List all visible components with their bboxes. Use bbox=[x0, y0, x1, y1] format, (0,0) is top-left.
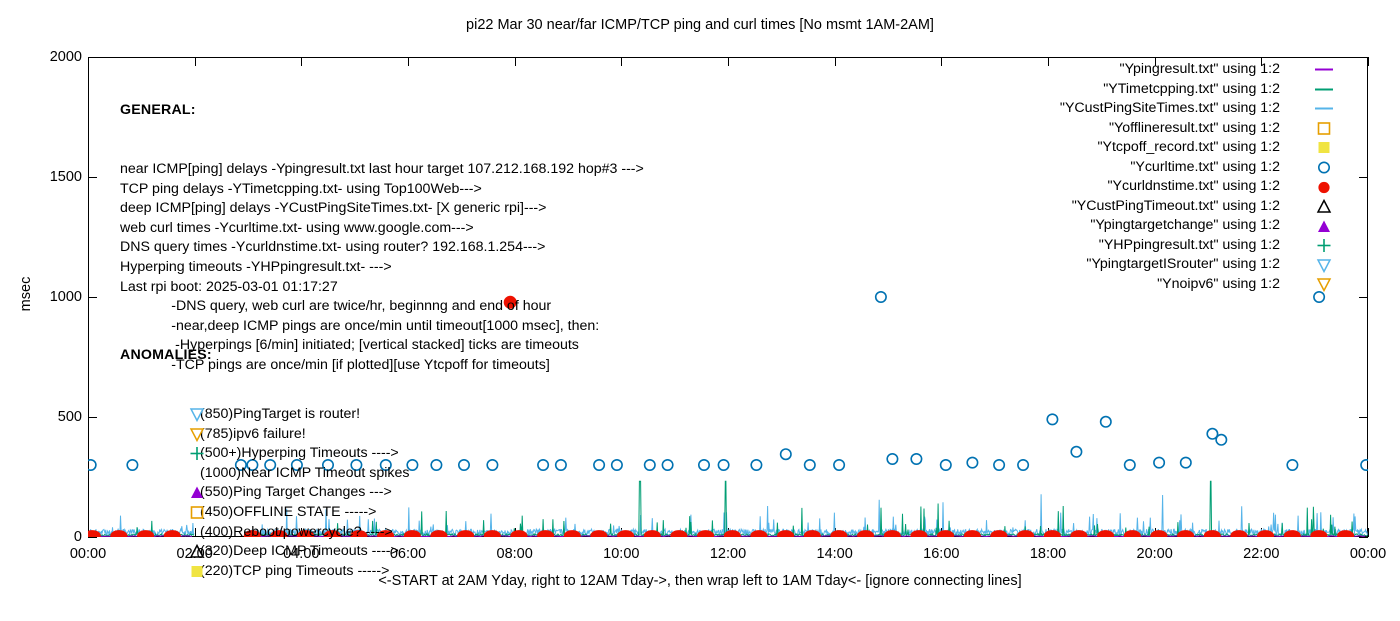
legend-row-7: "YCustPingTimeout.txt" using 1:2 bbox=[1060, 197, 1362, 217]
legend-row-11: "Ynoipv6" using 1:2 bbox=[1060, 275, 1362, 295]
x-tick-label-11: 22:00 bbox=[1216, 546, 1306, 562]
legend-row-10: "YpingtargetISrouter" using 1:2 bbox=[1060, 255, 1362, 275]
anomaly-row-3: (1000)Near ICMP Timeout spikes bbox=[120, 464, 409, 484]
curltime-marker bbox=[941, 460, 951, 470]
y-tick-label-2000: 2000 bbox=[50, 50, 82, 64]
legend-row-3: "Yofflineresult.txt" using 1:2 bbox=[1060, 119, 1362, 139]
general-line-2: deep ICMP[ping] delays -YCustPingSiteTim… bbox=[120, 199, 644, 219]
general-line-6: Last rpi boot: 2025-03-01 01:17:27 bbox=[120, 278, 644, 298]
anomaly-open-triangle-down-icon bbox=[188, 407, 206, 422]
legend-row-8: "Ypingtargetchange" using 1:2 bbox=[1060, 216, 1362, 236]
legend-row-9: "YHPpingresult.txt" using 1:2 bbox=[1060, 236, 1362, 256]
anomaly-open-triangle-up-icon bbox=[188, 544, 206, 559]
general-heading: GENERAL: bbox=[120, 101, 644, 121]
x-tick-mark-top bbox=[1368, 57, 1369, 66]
anomaly-row-5: (450)OFFLINE STATE -----> bbox=[120, 503, 409, 523]
curltime-marker bbox=[1047, 414, 1057, 424]
anomaly-row-1: (785)ipv6 failure! bbox=[120, 425, 409, 445]
legend-open-triangle-down-icon bbox=[1286, 255, 1362, 275]
legend-open-triangle-down-icon bbox=[1286, 275, 1362, 295]
dns-marker bbox=[88, 530, 101, 537]
legend-label: "YTimetcpping.txt" using 1:2 bbox=[1103, 81, 1280, 97]
legend-label: "Ypingtargetchange" using 1:2 bbox=[1090, 217, 1280, 233]
legend-line-icon bbox=[1286, 60, 1362, 80]
y-tick-label-0: 0 bbox=[74, 530, 82, 544]
chart-legend: "Ypingresult.txt" using 1:2"YTimetcpping… bbox=[1060, 60, 1362, 295]
legend-open-triangle-up-icon bbox=[1286, 197, 1362, 217]
anomalies-list: (850)PingTarget is router!(785)ipv6 fail… bbox=[120, 405, 409, 581]
anomaly-filled-triangle-up-icon bbox=[188, 485, 206, 500]
curltime-marker bbox=[699, 460, 709, 470]
curltime-marker bbox=[1101, 417, 1111, 427]
dns-marker bbox=[590, 530, 607, 537]
anomaly-label: (450)OFFLINE STATE -----> bbox=[200, 504, 376, 520]
legend-label: "YCustPingSiteTimes.txt" using 1:2 bbox=[1060, 100, 1280, 116]
chart-title: pi22 Mar 30 near/far ICMP/TCP ping and c… bbox=[0, 17, 1400, 33]
anomaly-row-6: (400)Reboot/powercycle? ----> bbox=[120, 523, 409, 543]
general-line-3: web curl times -Ycurltime.txt- using www… bbox=[120, 219, 644, 239]
anomaly-no-icon bbox=[188, 466, 206, 481]
curltime-marker bbox=[459, 460, 469, 470]
legend-label: "Ycurltime.txt" using 1:2 bbox=[1130, 159, 1280, 175]
anomaly-label: (1000)Near ICMP Timeout spikes bbox=[200, 465, 409, 481]
curltime-marker bbox=[911, 454, 921, 464]
curltime-marker bbox=[781, 449, 791, 459]
curltime-marker bbox=[718, 460, 728, 470]
curltime-marker bbox=[1071, 447, 1081, 457]
legend-label: "YCustPingTimeout.txt" using 1:2 bbox=[1072, 198, 1280, 214]
x-tick-label-7: 14:00 bbox=[790, 546, 880, 562]
legend-row-6: "Ycurldnstime.txt" using 1:2 bbox=[1060, 177, 1362, 197]
anomaly-label: (850)PingTarget is router! bbox=[200, 406, 360, 422]
anomaly-label: (500+)Hyperping Timeouts ----> bbox=[200, 445, 399, 461]
legend-row-0: "Ypingresult.txt" using 1:2 bbox=[1060, 60, 1362, 80]
legend-row-5: "Ycurltime.txt" using 1:2 bbox=[1060, 158, 1362, 178]
anomaly-label: (785)ipv6 failure! bbox=[200, 426, 306, 442]
x-axis-caption: <-START at 2AM Yday, right to 12AM Tday-… bbox=[0, 573, 1400, 589]
curltime-marker bbox=[1018, 460, 1028, 470]
anomaly-row-2: (500+)Hyperping Timeouts ----> bbox=[120, 444, 409, 464]
x-tick-label-8: 16:00 bbox=[896, 546, 986, 562]
general-line-0: near ICMP[ping] delays -Ypingresult.txt … bbox=[120, 160, 644, 180]
anomaly-plus-icon bbox=[188, 446, 206, 461]
anomalies-heading: ANOMALIES: bbox=[120, 346, 409, 366]
curltime-marker bbox=[805, 460, 815, 470]
legend-filled-triangle-up-icon bbox=[1286, 216, 1362, 236]
curltime-marker bbox=[88, 460, 96, 470]
curltime-marker bbox=[1216, 435, 1226, 445]
y-tick-label-1500: 1500 bbox=[50, 170, 82, 184]
anomaly-row-0: (850)PingTarget is router! bbox=[120, 405, 409, 425]
curltime-marker bbox=[487, 460, 497, 470]
curltime-marker bbox=[994, 460, 1004, 470]
anomaly-open-square-icon bbox=[188, 505, 206, 520]
curltime-marker bbox=[887, 454, 897, 464]
curltime-marker bbox=[645, 460, 655, 470]
legend-filled-square-icon bbox=[1286, 138, 1362, 158]
curltime-marker bbox=[538, 460, 548, 470]
curltime-marker bbox=[876, 292, 886, 302]
y-tick-label-500: 500 bbox=[58, 410, 82, 424]
x-tick-label-9: 18:00 bbox=[1003, 546, 1093, 562]
general-line-5: Hyperping timeouts -YHPpingresult.txt- -… bbox=[120, 258, 644, 278]
y-tick-mark bbox=[88, 537, 97, 538]
curltime-marker bbox=[556, 460, 566, 470]
legend-line-icon bbox=[1286, 99, 1362, 119]
anomaly-open-triangle-down-icon bbox=[188, 427, 206, 442]
curltime-marker bbox=[751, 460, 761, 470]
curltime-marker bbox=[1287, 460, 1297, 470]
x-tick-label-10: 20:00 bbox=[1110, 546, 1200, 562]
curltime-marker bbox=[834, 460, 844, 470]
anomaly-label: (400)Reboot/powercycle? ----> bbox=[200, 524, 393, 540]
legend-line-icon bbox=[1286, 80, 1362, 100]
x-tick-mark bbox=[1368, 528, 1369, 537]
legend-open-square-icon bbox=[1286, 119, 1362, 139]
y-axis-label: msec bbox=[18, 254, 34, 334]
curltime-marker bbox=[594, 460, 604, 470]
general-line-1: TCP ping delays -YTimetcpping.txt- using… bbox=[120, 180, 644, 200]
legend-row-1: "YTimetcpping.txt" using 1:2 bbox=[1060, 80, 1362, 100]
legend-filled-circle-icon bbox=[1286, 177, 1362, 197]
legend-open-circle-icon bbox=[1286, 158, 1362, 178]
legend-row-4: "Ytcpoff_record.txt" using 1:2 bbox=[1060, 138, 1362, 158]
anomaly-label: (320)Deep ICMP Timeouts ----> bbox=[200, 543, 399, 559]
x-tick-label-4: 08:00 bbox=[470, 546, 560, 562]
curltime-marker bbox=[1125, 460, 1135, 470]
x-tick-label-5: 10:00 bbox=[576, 546, 666, 562]
dns-marker bbox=[510, 530, 527, 537]
curltime-marker bbox=[1154, 457, 1164, 467]
dns-marker bbox=[430, 530, 447, 537]
curltime-marker bbox=[967, 457, 977, 467]
x-tick-label-12: 00:00 bbox=[1323, 546, 1400, 562]
legend-label: "Yofflineresult.txt" using 1:2 bbox=[1109, 120, 1280, 136]
legend-label: "YpingtargetISrouter" using 1:2 bbox=[1086, 256, 1280, 272]
legend-label: "Ycurldnstime.txt" using 1:2 bbox=[1107, 178, 1280, 194]
y-tick-label-1000: 1000 bbox=[50, 290, 82, 304]
y-tick-mark-right bbox=[1359, 537, 1368, 538]
x-tick-label-6: 12:00 bbox=[683, 546, 773, 562]
curltime-marker bbox=[662, 460, 672, 470]
legend-plus-icon bbox=[1286, 236, 1362, 256]
legend-row-2: "YCustPingSiteTimes.txt" using 1:2 bbox=[1060, 99, 1362, 119]
anomaly-label: (550)Ping Target Changes ---> bbox=[200, 484, 392, 500]
legend-label: "YHPpingresult.txt" using 1:2 bbox=[1099, 237, 1280, 253]
curltime-marker bbox=[1181, 457, 1191, 467]
general-line-4: DNS query times -Ycurldnstime.txt- using… bbox=[120, 238, 644, 258]
chart-root: pi22 Mar 30 near/far ICMP/TCP ping and c… bbox=[0, 0, 1400, 600]
anomaly-no-icon bbox=[188, 525, 206, 540]
anomaly-row-7: (320)Deep ICMP Timeouts ----> bbox=[120, 542, 409, 562]
curltime-marker bbox=[612, 460, 622, 470]
legend-label: "Ytcpoff_record.txt" using 1:2 bbox=[1097, 139, 1280, 155]
anomaly-row-4: (550)Ping Target Changes ---> bbox=[120, 483, 409, 503]
curltime-marker bbox=[1361, 460, 1368, 470]
legend-label: "Ynoipv6" using 1:2 bbox=[1157, 276, 1280, 292]
curltime-marker bbox=[431, 460, 441, 470]
legend-label: "Ypingresult.txt" using 1:2 bbox=[1120, 61, 1280, 77]
